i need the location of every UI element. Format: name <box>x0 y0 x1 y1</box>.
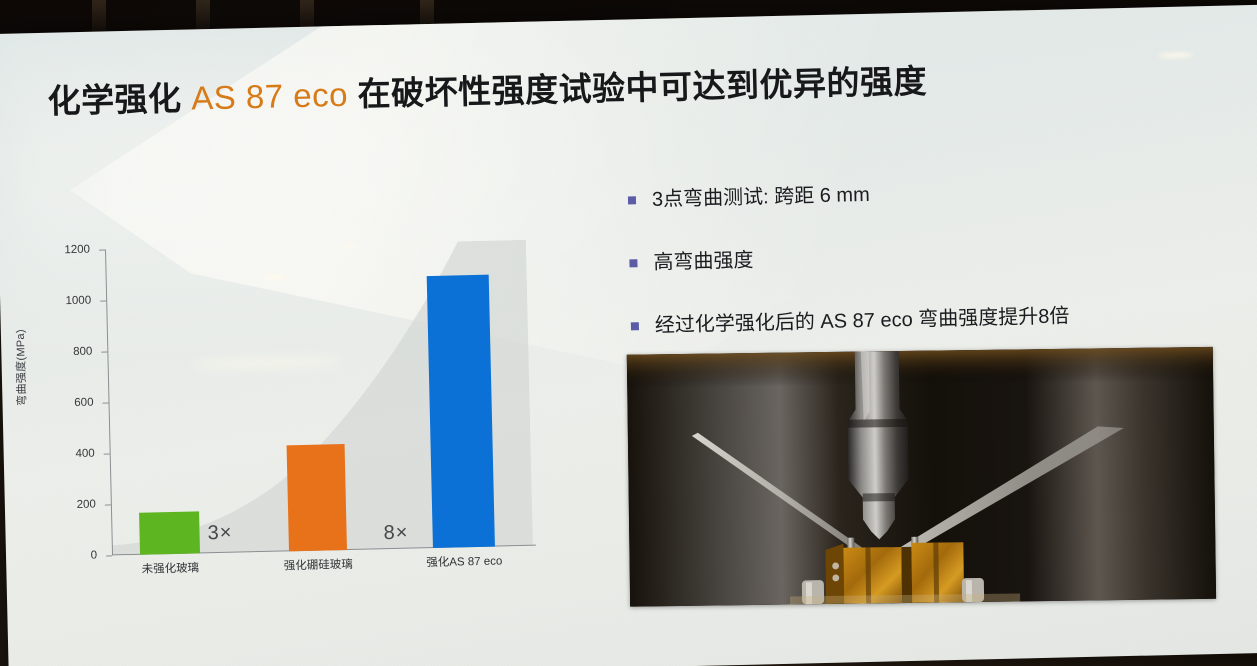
annotation-multiplier-2: 8× <box>383 522 408 546</box>
chart-y-tick: 1200 <box>99 250 105 251</box>
title-product-name: AS 87 eco <box>191 76 349 117</box>
chart-y-axis-label: 弯曲强度(MPa) <box>11 272 31 462</box>
page-title: 化学强化 AS 87 eco 在破坏性强度试验中可达到优异的强度 <box>47 54 1228 122</box>
chart-plot-area: 020040060080010001200 未强化玻璃强化硼硅玻璃强化AS 87… <box>105 240 532 556</box>
bend-test-illustration <box>627 347 1216 607</box>
presentation-slide: 化学强化 AS 87 eco 在破坏性强度试验中可达到优异的强度 3点弯曲测试:… <box>0 5 1257 666</box>
chart-y-tick-label: 1200 <box>64 244 90 257</box>
chart-y-tick: 800 <box>101 351 107 352</box>
chart-category-label: 强化AS 87 eco <box>426 552 502 570</box>
bullet-text: 3点弯曲测试: 跨距 6 mm <box>652 182 870 213</box>
bullet-square-icon <box>629 259 637 267</box>
bullet-list: 3点弯曲测试: 跨距 6 mm 高弯曲强度 经过化学强化后的 AS 87 eco… <box>628 174 1232 377</box>
chart-bar <box>427 275 495 548</box>
bullet-square-icon <box>631 322 639 330</box>
chart-y-tick: 1000 <box>100 300 106 301</box>
title-prefix: 化学强化 <box>47 80 182 120</box>
annotation-multiplier-1: 3× <box>207 522 232 546</box>
chart-y-tick-label: 1000 <box>65 295 91 308</box>
chart-category-label: 未强化玻璃 <box>141 559 199 576</box>
chart-category-label: 强化硼硅玻璃 <box>284 556 353 574</box>
bar-chart: 弯曲强度(MPa) 020040060080010001200 未强化玻璃强化硼… <box>9 227 578 630</box>
photographed-slide-scene: 化学强化 AS 87 eco 在破坏性强度试验中可达到优异的强度 3点弯曲测试:… <box>0 0 1257 666</box>
title-suffix: 在破坏性强度试验中可达到优异的强度 <box>357 63 927 113</box>
bullet-square-icon <box>628 196 636 204</box>
chart-y-tick-label: 400 <box>75 448 94 460</box>
chart-y-tick: 400 <box>104 453 110 454</box>
chart-bar <box>287 444 347 551</box>
chart-y-tick: 0 <box>106 555 112 556</box>
chart-y-tick: 600 <box>103 402 109 403</box>
chart-y-tick-label: 200 <box>77 499 96 511</box>
chart-y-tick-label: 600 <box>74 397 93 409</box>
bend-test-photo <box>627 347 1216 607</box>
chart-bar <box>139 511 200 554</box>
chart-y-tick-label: 800 <box>73 346 92 358</box>
bullet-text: 高弯曲强度 <box>653 248 754 276</box>
list-item: 高弯曲强度 <box>629 237 1229 277</box>
chart-y-tick-label: 0 <box>90 550 97 562</box>
list-item: 经过化学强化后的 AS 87 eco 弯曲强度提升8倍 <box>631 300 1231 340</box>
chart-y-tick: 200 <box>105 504 111 505</box>
bullet-text: 经过化学强化后的 AS 87 eco 弯曲强度提升8倍 <box>655 303 1070 339</box>
list-item: 3点弯曲测试: 跨距 6 mm <box>628 174 1228 214</box>
